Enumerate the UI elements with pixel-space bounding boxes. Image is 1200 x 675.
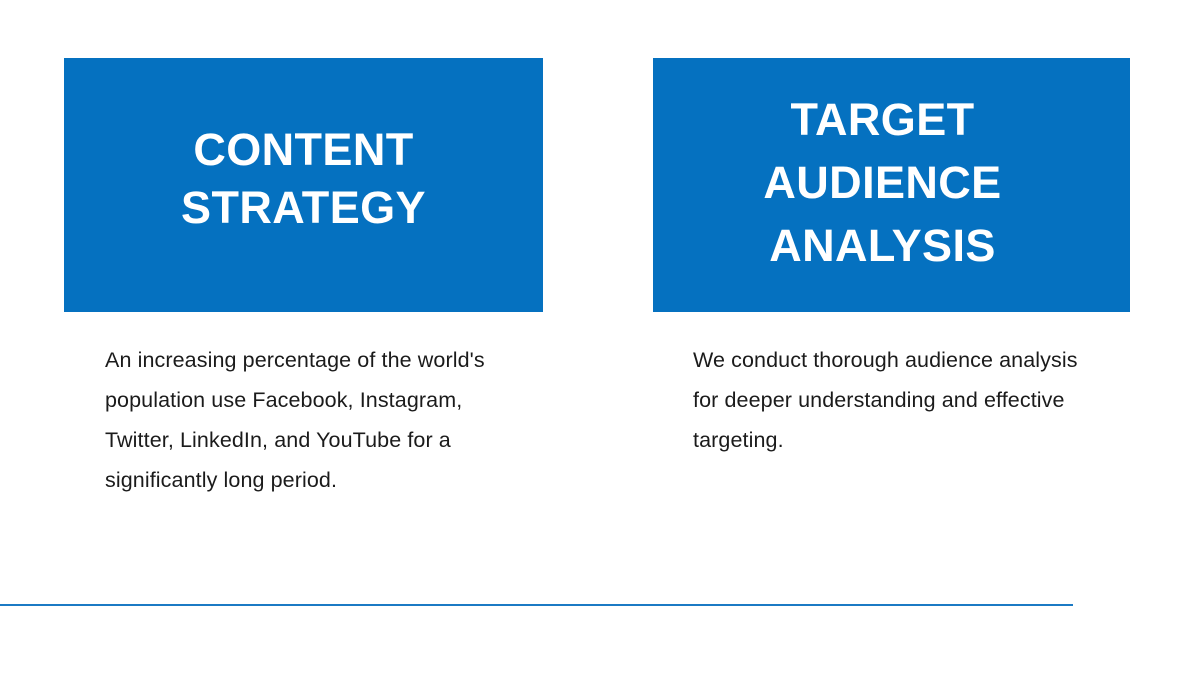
panel-title-target-audience-analysis: Target Audience Analysis — [733, 88, 1031, 277]
body-text-content-strategy: An increasing percentage of the world's … — [105, 340, 505, 500]
column-content-strategy: Content Strategy An increasing percentag… — [0, 0, 600, 675]
panel-title-content-strategy: Content Strategy — [153, 121, 454, 237]
body-text-target-audience-analysis: We conduct thorough audience analysis fo… — [693, 340, 1083, 460]
heading-panel-target-audience-analysis: Target Audience Analysis — [653, 58, 1130, 312]
footer-accent-rule — [0, 604, 1073, 606]
heading-panel-content-strategy: Content Strategy — [64, 58, 543, 312]
slide-canvas: Content Strategy An increasing percentag… — [0, 0, 1200, 675]
column-target-audience-analysis: Target Audience Analysis We conduct thor… — [600, 0, 1200, 675]
